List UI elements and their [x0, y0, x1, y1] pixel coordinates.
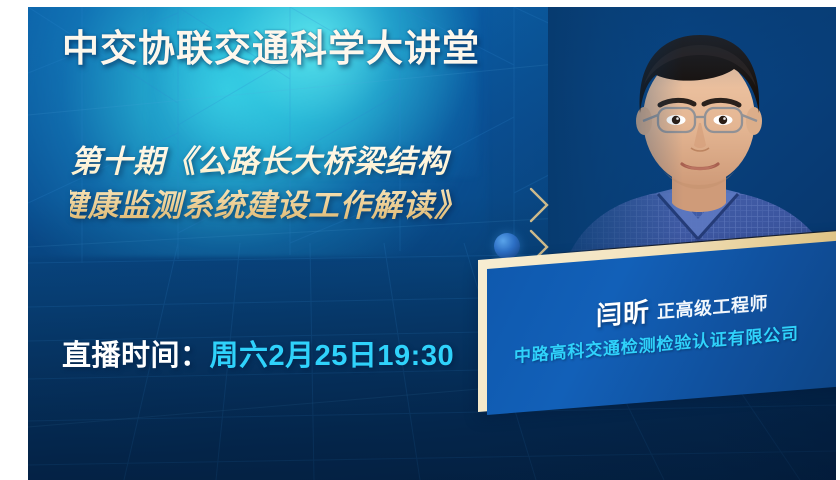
blue-orb-icon — [494, 233, 520, 259]
live-time-row: 直播时间：周六2月25日19:30 — [62, 332, 454, 374]
episode-subtitle-line1: 第十期《公路长大桥梁结构 — [70, 144, 448, 179]
episode-subtitle: 第十期《公路长大桥梁结构 健康监测系统建设工作解读》 — [70, 140, 590, 228]
speaker-role: 正高级工程师 — [657, 293, 768, 322]
page-title: 中交协联交通科学大讲堂 — [62, 29, 480, 70]
speaker-panel: 闫昕正高级工程师 中路高科交通检测检验认证有限公司 — [478, 260, 836, 412]
episode-subtitle-line2: 健康监测系统建设工作解读》 — [56, 184, 590, 228]
live-time-value: 周六2月25日19:30 — [210, 340, 455, 372]
speaker-name: 闫昕 — [596, 297, 650, 331]
poster-root: 中交协联交通科学大讲堂 第十期《公路长大桥梁结构 健康监测系统建设工作解读》 直… — [0, 0, 840, 480]
live-time-label: 直播时间： — [62, 340, 210, 372]
poster-canvas: 中交协联交通科学大讲堂 第十期《公路长大桥梁结构 健康监测系统建设工作解读》 直… — [28, 7, 836, 480]
speaker-panel-text: 闫昕正高级工程师 中路高科交通检测检验认证有限公司 — [478, 260, 836, 412]
